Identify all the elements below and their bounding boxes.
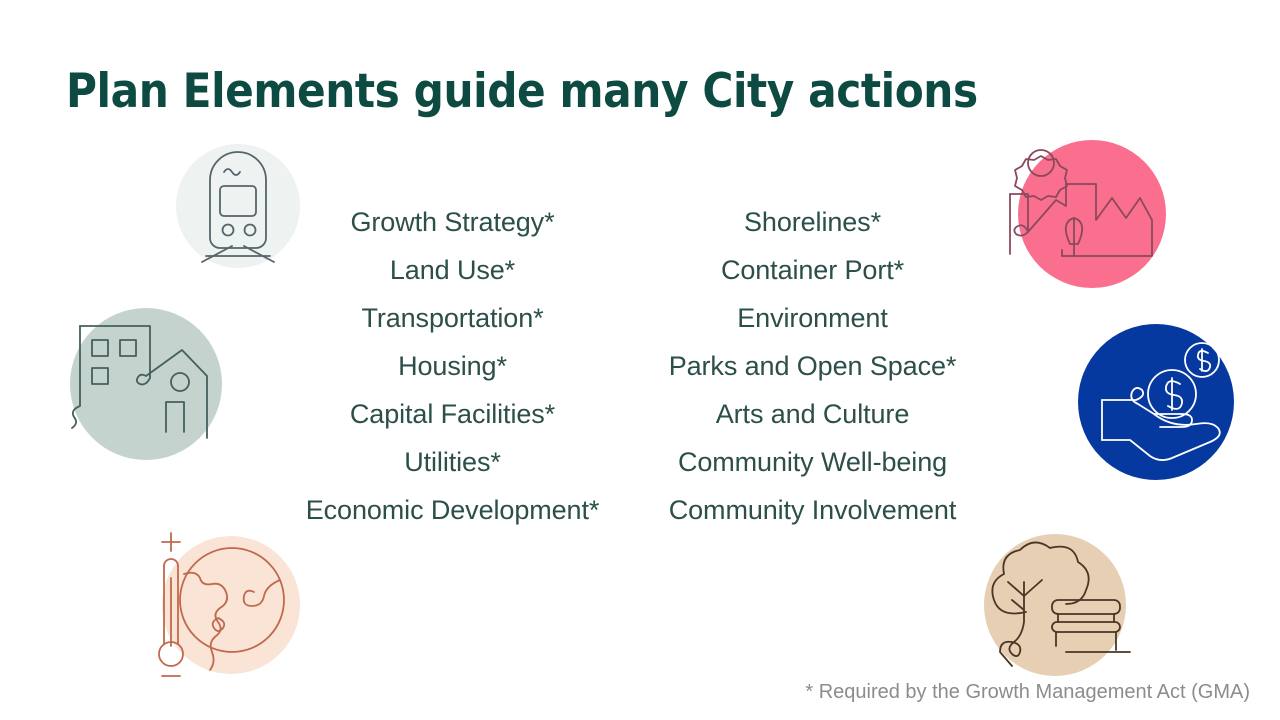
plan-element-item: Transportation*: [361, 294, 543, 342]
plan-elements-right-column: Shorelines* Container Port* Environment …: [625, 198, 1000, 534]
shoreline-landscape-icon: [1000, 132, 1160, 292]
page-title: Plan Elements guide many City actions: [66, 66, 978, 118]
plan-element-item: Community Well-being: [678, 438, 947, 486]
gma-footnote: * Required by the Growth Management Act …: [805, 681, 1250, 704]
plan-element-item: Growth Strategy*: [351, 198, 555, 246]
plan-element-item: Parks and Open Space*: [669, 342, 957, 390]
plan-element-item: Capital Facilities*: [350, 390, 555, 438]
plan-element-item: Arts and Culture: [716, 390, 910, 438]
slide-canvas: Plan Elements guide many City actions: [0, 0, 1280, 720]
plan-element-item: Shorelines*: [744, 198, 881, 246]
economy-hand-coins-icon: [1074, 318, 1234, 478]
plan-element-item: Community Involvement: [669, 486, 957, 534]
plan-element-item: Environment: [737, 294, 887, 342]
plan-elements-left-column: Growth Strategy* Land Use* Transportatio…: [280, 198, 625, 534]
plan-element-item: Economic Development*: [306, 486, 600, 534]
climate-thermometer-globe-icon: [140, 526, 300, 686]
plan-elements-columns: Growth Strategy* Land Use* Transportatio…: [280, 198, 1000, 534]
parks-tree-bench-icon: [968, 526, 1128, 686]
housing-buildings-icon: [62, 298, 222, 458]
plan-element-item: Container Port*: [721, 246, 904, 294]
plan-element-item: Land Use*: [390, 246, 515, 294]
plan-element-item: Utilities*: [404, 438, 501, 486]
plan-element-item: Housing*: [398, 342, 507, 390]
